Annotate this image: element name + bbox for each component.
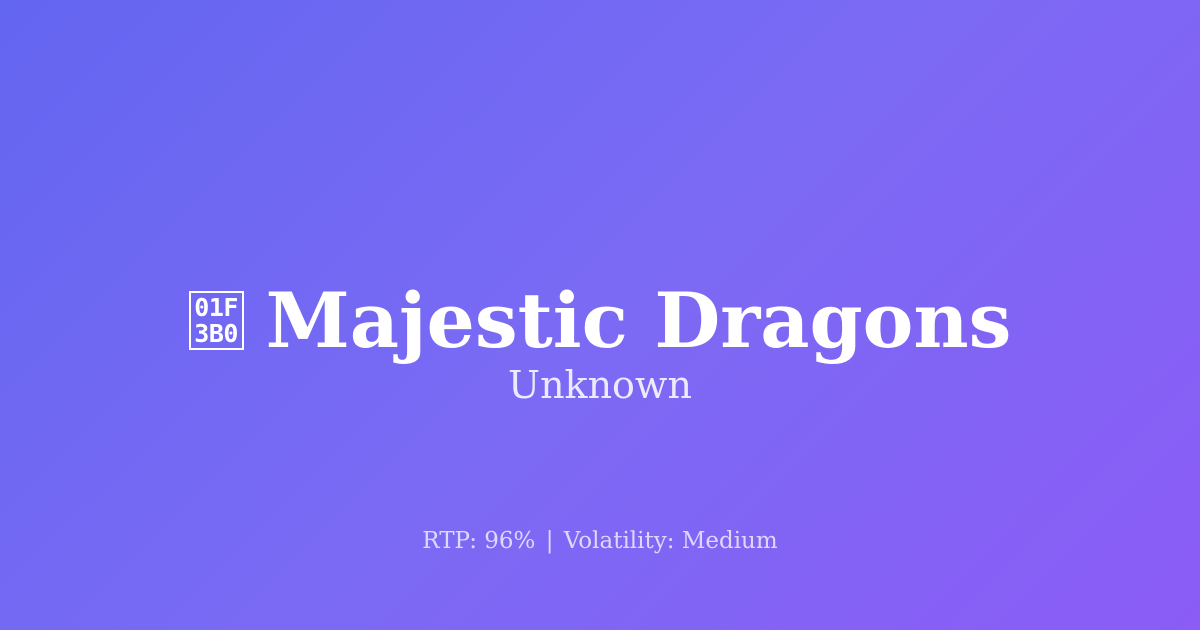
slot-machine-icon: 01F 3B0 — [189, 291, 244, 350]
volatility-value: Medium — [682, 528, 778, 554]
game-meta-line: RTP: 96% | Volatility: Medium — [0, 527, 1200, 557]
game-preview-card: 01F 3B0 Majestic Dragons Unknown RTP: 96… — [0, 0, 1200, 630]
rtp-label: RTP: — [422, 528, 477, 554]
volatility-label: Volatility: — [564, 528, 675, 554]
page-title: Majestic Dragons — [266, 283, 1012, 359]
provider-label: Unknown — [0, 363, 1200, 409]
meta-separator: | — [543, 528, 557, 554]
rtp-value: 96% — [484, 528, 535, 554]
hexbox-codepoint-high: 01F — [194, 295, 238, 320]
hexbox-codepoint-low: 3B0 — [194, 321, 238, 346]
